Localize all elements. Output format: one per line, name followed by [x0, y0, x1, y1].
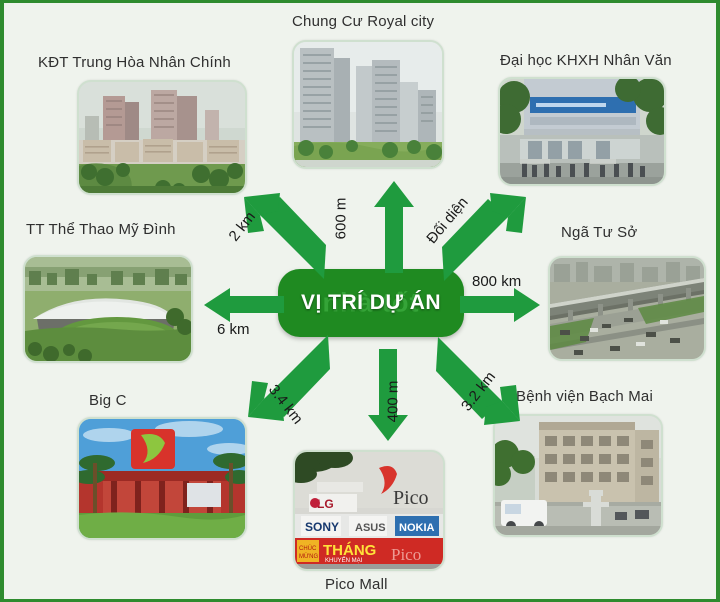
arrow-up-left	[236, 189, 326, 281]
caption-bach-mai: Bệnh viện Bạch Mai	[516, 388, 653, 405]
svg-text:Pico: Pico	[393, 487, 429, 509]
distance-label-to-pico-mall: 400 m	[384, 381, 401, 423]
photo-trung-hoa-nhan-chinh	[77, 80, 247, 195]
photo-nga-tu-so	[548, 256, 706, 361]
distance-label-to-royal-city: 600 m	[332, 198, 349, 240]
caption-khxh-nhan-van: Đại học KHXH Nhân Văn	[500, 52, 672, 69]
arrow-right	[460, 288, 540, 322]
center-badge-label: VỊ TRÍ DỰ ÁN	[301, 291, 441, 315]
caption-trung-hoa-nhan-chinh: KĐT Trung Hòa Nhân Chính	[38, 54, 231, 71]
photo-my-dinh	[23, 255, 193, 363]
photo-royal-city	[292, 40, 444, 169]
svg-text:CHÚC: CHÚC	[299, 545, 317, 552]
caption-big-c: Big C	[89, 392, 127, 409]
photo-big-c	[77, 417, 247, 540]
photo-bach-mai	[493, 414, 663, 537]
arrow-up	[374, 181, 414, 273]
caption-my-dinh: TT Thể Thao Mỹ Đình	[26, 221, 176, 238]
svg-text:SONY: SONY	[305, 520, 339, 534]
arrow-left	[204, 288, 284, 322]
photo-pico-mall: Pico LG SONY ASUS NOKIA CHÚC MỪNG THÁNG …	[293, 450, 445, 571]
distance-label-to-nga-tu-so: 800 km	[472, 273, 521, 290]
svg-text:MỪNG: MỪNG	[299, 553, 318, 560]
svg-text:ASUS: ASUS	[355, 522, 386, 534]
svg-text:NOKIA: NOKIA	[399, 522, 435, 534]
caption-pico-mall: Pico Mall	[325, 576, 388, 593]
svg-text:Pico: Pico	[391, 545, 421, 564]
svg-text:THÁNG: THÁNG	[323, 542, 376, 559]
caption-royal-city: Chung Cư Royal city	[292, 13, 434, 30]
caption-nga-tu-so: Ngã Tư Sở	[561, 224, 637, 241]
svg-text:KHUYẾN MẠI: KHUYẾN MẠI	[325, 557, 363, 564]
photo-khxh-nhan-van	[498, 77, 666, 186]
location-diagram: KĐT Trung Hòa Nhân Chính Chung Cư Royal …	[0, 0, 720, 602]
